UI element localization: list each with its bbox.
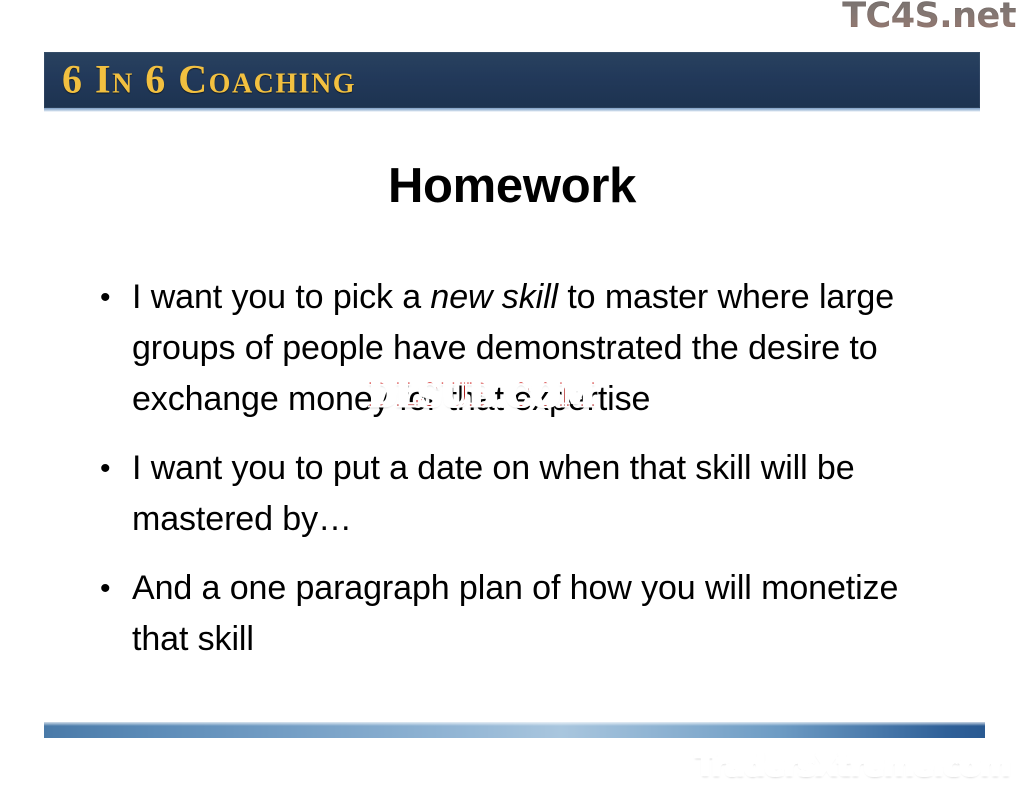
bullet-list: I want you to pick a new skill to master… [96,272,946,683]
slide-header-banner: 6 In 6 Coaching [44,52,980,108]
banner-title: 6 In 6 Coaching [62,56,356,103]
page-title: Homework [0,158,1024,214]
site-watermark-top: TC4S.net [842,0,1016,35]
list-item: And a one paragraph plan of how you will… [96,563,946,665]
list-item: I want you to put a date on when that sk… [96,443,946,545]
bullet-text-lead: I want you to pick a [132,278,430,316]
presentation-slide: TC4S.net 6 In 6 Coaching Homework I want… [0,0,1024,791]
site-watermark-footer: TradersXtreme.com [695,748,1010,783]
list-item: I want you to pick a new skill to master… [96,272,946,425]
footer-divider-bar [44,722,985,738]
bullet-text-emphasis: new skill [430,278,558,316]
bullet-text-lead: And a one paragraph plan of how you will… [132,569,898,658]
bullet-text-lead: I want you to put a date on when that sk… [132,449,855,538]
